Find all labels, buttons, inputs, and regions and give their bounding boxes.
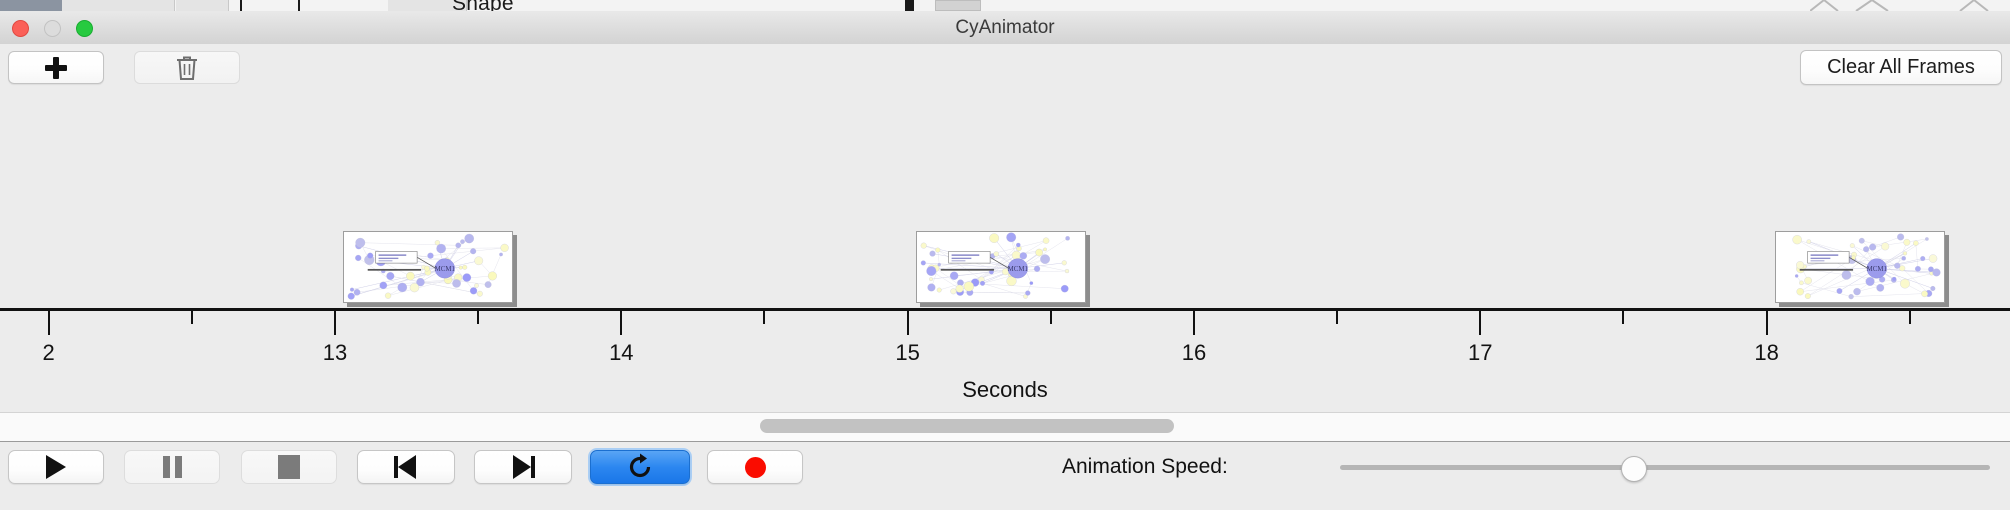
play-button[interactable] (8, 450, 104, 484)
background-window-curves-icon (1810, 0, 2010, 11)
cyanimator-window: Shape CyAnimator Clear All Fra (0, 0, 2010, 510)
stop-icon (278, 455, 300, 479)
svg-text:MCM1: MCM1 (1867, 266, 1888, 273)
frame-toolbar: Clear All Frames (0, 44, 2010, 91)
record-icon (745, 457, 766, 478)
background-window-tick (905, 0, 914, 11)
stop-button[interactable] (241, 450, 337, 484)
timeline-tick-label: 2 (43, 340, 55, 366)
timeline-minor-tick (1622, 311, 1624, 324)
animation-speed-slider-thumb[interactable] (1621, 456, 1647, 482)
clear-all-frames-label: Clear All Frames (1827, 56, 1975, 79)
window-title: CyAnimator (0, 11, 2010, 44)
skip-to-start-button[interactable] (357, 450, 455, 484)
timeline-major-tick (907, 311, 909, 335)
timeline-frame-thumbnail[interactable]: MCM1 (343, 231, 513, 303)
timeline-major-tick (620, 311, 622, 335)
svg-text:MCM1: MCM1 (435, 266, 456, 273)
animation-speed-slider-track[interactable] (1340, 465, 1990, 470)
pause-button[interactable] (124, 450, 220, 484)
svg-text:MCM1: MCM1 (1008, 266, 1029, 273)
timeline-minor-tick (763, 311, 765, 324)
skip-to-end-button[interactable] (474, 450, 572, 484)
pause-icon (163, 456, 182, 478)
timeline-major-tick (48, 311, 50, 335)
timeline-axis-title: Seconds (0, 377, 2010, 403)
timeline-panel[interactable]: 2131415161718 Seconds MCM1MCM1MCM1 (0, 90, 2010, 412)
trash-icon (174, 54, 200, 82)
timeline-major-tick (334, 311, 336, 335)
timeline-minor-tick (477, 311, 479, 324)
background-window-segment (62, 0, 175, 11)
loop-button[interactable] (590, 450, 690, 484)
playback-controls: Animation Speed: (0, 442, 2010, 510)
animation-speed-label: Animation Speed: (1062, 450, 1228, 484)
timeline-major-tick (1766, 311, 1768, 335)
background-window-dark-region (0, 0, 62, 11)
timeline-minor-tick (1050, 311, 1052, 324)
timeline-tick-label: 15 (895, 340, 919, 366)
timeline-tick-label: 17 (1468, 340, 1492, 366)
skip-forward-icon (511, 455, 535, 479)
background-window-blob (935, 0, 981, 11)
delete-frame-button[interactable] (134, 51, 240, 84)
background-window-tick (240, 0, 242, 11)
timeline-axis (0, 308, 2010, 311)
timeline-minor-tick (1909, 311, 1911, 324)
timeline-tick-label: 14 (609, 340, 633, 366)
record-button[interactable] (707, 450, 803, 484)
loop-icon (625, 452, 655, 482)
timeline-tick-label: 16 (1182, 340, 1206, 366)
title-bar[interactable]: CyAnimator (0, 11, 2010, 45)
background-window-tick (298, 0, 300, 11)
timeline-major-tick (1479, 311, 1481, 335)
timeline-scrollbar-thumb[interactable] (760, 419, 1174, 433)
plus-icon (45, 57, 67, 79)
timeline-frame-thumbnail[interactable]: MCM1 (1775, 231, 1945, 303)
background-window-segment (176, 0, 229, 11)
timeline-tick-label: 13 (323, 340, 347, 366)
timeline-frame-thumbnail[interactable]: MCM1 (916, 231, 1086, 303)
add-frame-button[interactable] (8, 51, 104, 84)
timeline-minor-tick (191, 311, 193, 324)
clear-all-frames-button[interactable]: Clear All Frames (1800, 50, 2002, 85)
play-icon (46, 455, 66, 479)
timeline-minor-tick (1336, 311, 1338, 324)
skip-back-icon (394, 455, 418, 479)
timeline-major-tick (1193, 311, 1195, 335)
timeline-tick-label: 18 (1754, 340, 1778, 366)
